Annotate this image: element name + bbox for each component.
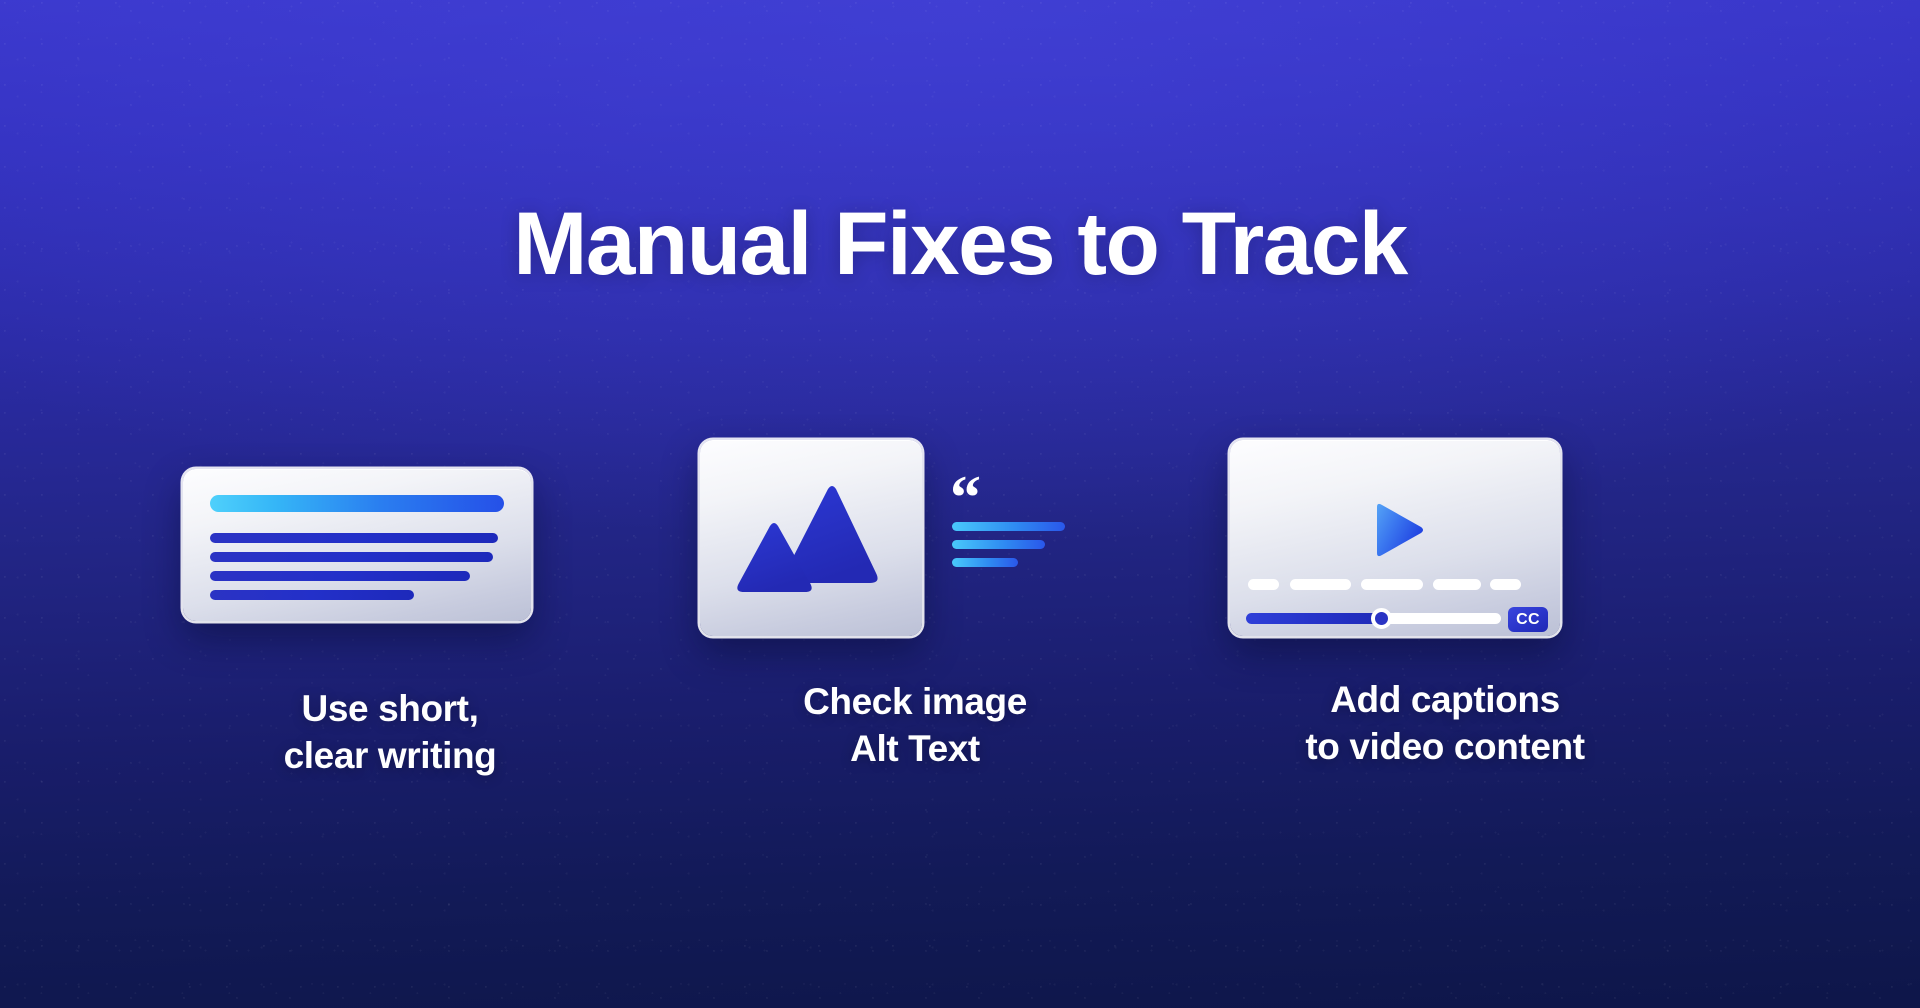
document-text-line (210, 552, 493, 562)
tip-caption: Use short, clear writing (175, 685, 605, 780)
document-text-line (210, 590, 414, 600)
caption-dash (1361, 579, 1423, 590)
tips-row: Use short, clear writing (0, 440, 1920, 860)
alt-text-line (952, 540, 1045, 549)
slide-canvas: Manual Fixes to Track Use short, clear w… (0, 0, 1920, 1008)
play-icon[interactable] (1365, 499, 1427, 561)
tip-caption-line-2: clear writing (175, 732, 605, 779)
tip-caption-line-1: Check image (700, 678, 1130, 725)
caption-dash (1290, 579, 1351, 590)
document-heading-bar (210, 495, 504, 512)
alt-text-line (952, 558, 1018, 567)
tip-caption: Check image Alt Text (700, 678, 1130, 773)
caption-dash (1248, 579, 1279, 590)
text-document-card-icon (183, 469, 531, 621)
caption-dashes (1248, 579, 1542, 591)
quote-mark-icon: “ (950, 467, 981, 529)
image-mountain-card-icon (700, 440, 922, 636)
tip-caption-line-1: Use short, (175, 685, 605, 732)
caption-dash (1433, 579, 1481, 590)
document-text-line (210, 533, 498, 543)
alt-text-line (952, 522, 1065, 531)
tip-caption-line-2: to video content (1230, 723, 1660, 770)
document-text-line (210, 571, 470, 581)
page-title: Manual Fixes to Track (0, 199, 1920, 288)
cc-badge[interactable]: CC (1508, 607, 1548, 632)
mountain-icon (700, 440, 922, 636)
progress-scrubber-handle[interactable] (1371, 608, 1392, 629)
caption-dash (1490, 579, 1521, 590)
video-progress-bar[interactable]: CC (1246, 609, 1546, 627)
tip-caption: Add captions to video content (1230, 676, 1660, 771)
tip-caption-line-1: Add captions (1230, 676, 1660, 723)
progress-fill (1246, 613, 1386, 624)
video-player-card-icon: CC (1230, 440, 1560, 636)
tip-caption-line-2: Alt Text (700, 725, 1130, 772)
alt-text-quote-group: “ (950, 473, 1080, 553)
